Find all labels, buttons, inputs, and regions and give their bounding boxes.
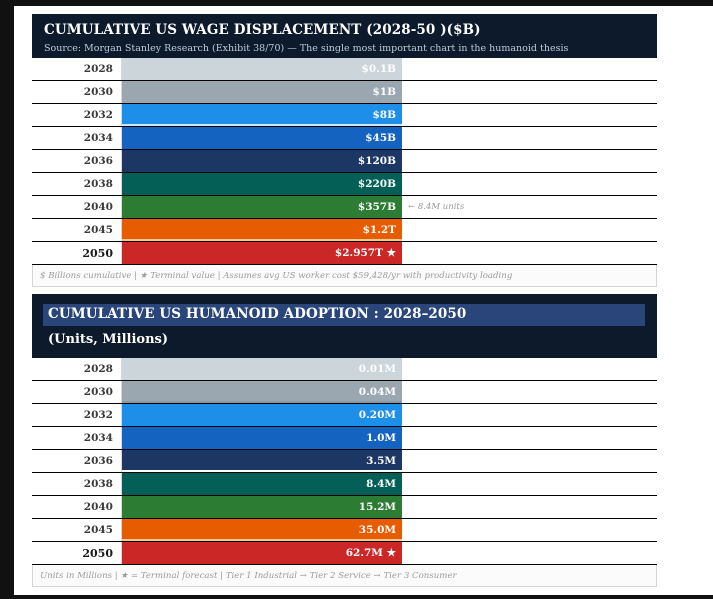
bar-value-label: $8B — [373, 109, 397, 121]
chart-1-subtitle: Source: Morgan Stanley Research (Exhibit… — [44, 42, 647, 56]
bar-value-label: 8.4M — [366, 478, 396, 490]
row-year-label: 2030 — [32, 81, 122, 103]
table-row[interactable]: 2030 0.04M — [32, 381, 657, 404]
row-track: $220B — [122, 173, 657, 195]
bar-underline — [122, 239, 402, 241]
bar-underline — [122, 401, 402, 403]
row-track: $1.2T — [122, 219, 657, 241]
bar[interactable]: 1.0M — [122, 427, 402, 449]
table-row[interactable]: 2045 35.0M — [32, 519, 657, 542]
row-track: 0.01M — [122, 358, 657, 380]
row-track: 3.5M — [122, 450, 657, 472]
table-row[interactable]: 2040 15.2M — [32, 496, 657, 519]
table-row[interactable]: 2030 $1B — [32, 81, 657, 104]
row-track: 8.4M — [122, 473, 657, 495]
bar[interactable]: $2.957T ★ — [122, 242, 402, 264]
bar-value-label: $120B — [358, 155, 396, 167]
chart-humanoid-adoption: CUMULATIVE US HUMANOID ADOPTION : 2028–2… — [32, 294, 657, 587]
bar-value-label: 3.5M — [366, 455, 396, 467]
row-year-label: 2032 — [32, 104, 122, 126]
row-year-label: 2038 — [32, 473, 122, 495]
row-track: 35.0M — [122, 519, 657, 541]
table-row[interactable]: 2032 0.20M — [32, 404, 657, 427]
bar[interactable]: $0.1B — [122, 58, 402, 80]
bar-value-label: 15.2M — [359, 501, 396, 513]
bar[interactable]: 8.4M — [122, 473, 402, 495]
row-track: $357B ← 8.4M units — [122, 196, 657, 218]
row-track: $1B — [122, 81, 657, 103]
table-row[interactable]: 2038 $220B — [32, 173, 657, 196]
row-track: $45B — [122, 127, 657, 149]
bar-underline — [122, 470, 402, 472]
chart-2-title-wrap: CUMULATIVE US HUMANOID ADOPTION : 2028–2… — [44, 304, 647, 326]
bar[interactable]: $120B — [122, 150, 402, 172]
chart-1-header: CUMULATIVE US WAGE DISPLACEMENT (2028-50… — [32, 14, 657, 58]
bar[interactable]: $1.2T — [122, 219, 402, 241]
bar[interactable]: 0.01M — [122, 358, 402, 380]
chart-2-header: CUMULATIVE US HUMANOID ADOPTION : 2028–2… — [32, 294, 657, 358]
row-track: 0.20M — [122, 404, 657, 426]
row-year-label: 2045 — [32, 219, 122, 241]
bar-value-label: 0.20M — [359, 409, 396, 421]
row-track: 0.04M — [122, 381, 657, 403]
row-year-label: 2040 — [32, 496, 122, 518]
row-year-label: 2030 — [32, 381, 122, 403]
table-row[interactable]: 2028 0.01M — [32, 358, 657, 381]
row-year-label: 2050 — [32, 542, 122, 564]
bar-value-label: $45B — [365, 132, 396, 144]
row-year-label: 2040 — [32, 196, 122, 218]
table-row[interactable]: 2038 8.4M — [32, 473, 657, 496]
row-year-label: 2038 — [32, 173, 122, 195]
chart-2-subtitle: (Units, Millions) — [44, 332, 647, 347]
row-year-label: 2036 — [32, 450, 122, 472]
bar-value-label: 62.7M ★ — [346, 547, 396, 559]
chart-2-rows: 2028 0.01M 2030 0.04M 2032 — [32, 358, 657, 565]
bar-value-label: $0.1B — [362, 63, 396, 75]
bar-value-label: $220B — [358, 178, 396, 190]
bar[interactable]: $45B — [122, 127, 402, 149]
bar[interactable]: $220B — [122, 173, 402, 195]
bar[interactable]: 0.04M — [122, 381, 402, 403]
bar-value-label: $1.2T — [363, 224, 396, 236]
row-track: $120B — [122, 150, 657, 172]
bar[interactable]: $357B — [122, 196, 402, 218]
table-row[interactable]: 2040 $357B ← 8.4M units — [32, 196, 657, 219]
chart-2-title: CUMULATIVE US HUMANOID ADOPTION : 2028–2… — [43, 304, 645, 326]
chart-2-footnote: Units in Millions | ★ = Terminal forecas… — [32, 565, 657, 587]
row-year-label: 2050 — [32, 242, 122, 264]
bar[interactable]: 0.20M — [122, 404, 402, 426]
table-row[interactable]: 2034 1.0M — [32, 427, 657, 450]
bar-value-label: $357B — [358, 201, 396, 213]
bar[interactable]: $1B — [122, 81, 402, 103]
bar[interactable]: 3.5M — [122, 450, 402, 472]
bar-value-label: $1B — [373, 86, 397, 98]
table-row[interactable]: 2050 $2.957T ★ — [32, 242, 657, 265]
bar-value-label: 1.0M — [366, 432, 396, 444]
bar-underline — [122, 539, 402, 541]
bar[interactable]: 35.0M — [122, 519, 402, 541]
table-row[interactable]: 2028 $0.1B — [32, 58, 657, 81]
bar[interactable]: $8B — [122, 104, 402, 126]
row-year-label: 2036 — [32, 150, 122, 172]
chart-wage-displacement: CUMULATIVE US WAGE DISPLACEMENT (2028-50… — [32, 14, 657, 287]
table-row[interactable]: 2036 $120B — [32, 150, 657, 173]
row-year-label: 2034 — [32, 427, 122, 449]
chart-1-title: CUMULATIVE US WAGE DISPLACEMENT (2028-50… — [44, 22, 647, 39]
chart-1-rows: 2028 $0.1B 2030 $1B 2032 — [32, 58, 657, 265]
bar-value-label: $2.957T ★ — [335, 247, 396, 259]
row-track: $8B — [122, 104, 657, 126]
row-year-label: 2034 — [32, 127, 122, 149]
table-row[interactable]: 2036 3.5M — [32, 450, 657, 473]
page-root: CUMULATIVE US WAGE DISPLACEMENT (2028-50… — [0, 0, 713, 599]
table-row[interactable]: 2045 $1.2T — [32, 219, 657, 242]
row-year-label: 2045 — [32, 519, 122, 541]
row-track: $2.957T ★ — [122, 242, 657, 264]
bar-annotation: ← 8.4M units — [408, 196, 464, 218]
row-year-label: 2028 — [32, 58, 122, 80]
row-track: 15.2M — [122, 496, 657, 518]
row-track: 62.7M ★ — [122, 542, 657, 564]
chart-1-footnote: $ Billions cumulative | ★ Terminal value… — [32, 265, 657, 287]
row-track: 1.0M — [122, 427, 657, 449]
row-year-label: 2032 — [32, 404, 122, 426]
bar-underline — [122, 124, 402, 126]
row-year-label: 2028 — [32, 358, 122, 380]
bar-value-label: 0.04M — [359, 386, 396, 398]
row-track: $0.1B — [122, 58, 657, 80]
bar[interactable]: 15.2M — [122, 496, 402, 518]
bar-value-label: 0.01M — [359, 363, 396, 375]
bar-value-label: 35.0M — [359, 524, 396, 536]
table-row[interactable]: 2034 $45B — [32, 127, 657, 150]
bar[interactable]: 62.7M ★ — [122, 542, 402, 564]
table-row[interactable]: 2032 $8B — [32, 104, 657, 127]
table-row[interactable]: 2050 62.7M ★ — [32, 542, 657, 565]
